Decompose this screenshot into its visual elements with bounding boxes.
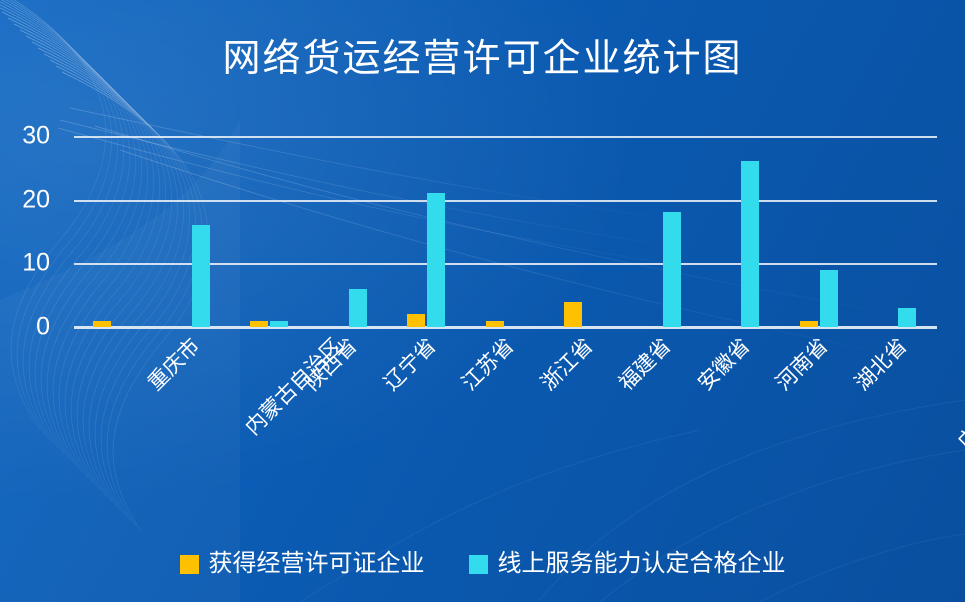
bar: [427, 193, 445, 327]
bar: [349, 289, 367, 327]
x-axis-label: 重庆市: [144, 335, 204, 395]
bar: [898, 308, 916, 327]
x-axis-label: 安徽省: [694, 335, 754, 395]
y-axis-labels: 30 20 10 0: [0, 136, 62, 327]
legend-label-permit: 获得经营许可证企业: [209, 550, 425, 578]
chart-title: 网络货运经营许可企业统计图: [0, 36, 965, 82]
chart-legend: 获得经营许可证企业 线上服务能力认定合格企业: [0, 550, 965, 578]
bar: [564, 302, 582, 327]
bar: [820, 270, 838, 327]
bar: [741, 161, 759, 327]
x-axis-label: 辽宁省: [380, 335, 440, 395]
x-axis-label: 广西壮族自治区: [954, 335, 965, 455]
bar: [407, 314, 425, 327]
legend-label-online: 线上服务能力认定合格企业: [498, 550, 786, 578]
x-axis-label: 福建省: [615, 335, 675, 395]
y-axis-tick-10: 10: [22, 251, 50, 276]
y-axis-tick-30: 30: [22, 124, 50, 149]
legend-swatch-icon-online: [469, 555, 488, 574]
legend-item-permit[interactable]: 获得经营许可证企业: [180, 550, 425, 578]
x-axis-label: 河南省: [772, 335, 832, 395]
bar: [663, 212, 681, 327]
bar-series-layer: [74, 136, 937, 327]
y-axis-tick-0: 0: [36, 315, 50, 340]
legend-item-online[interactable]: 线上服务能力认定合格企业: [469, 550, 786, 578]
x-axis-label: 浙江省: [537, 335, 597, 395]
x-axis-labels: 重庆市内蒙古自治区陕西省辽宁省江苏省浙江省福建省安徽省河南省湖北省广西壮族自治区: [74, 327, 937, 517]
x-axis-label: 湖北省: [851, 335, 911, 395]
bar: [192, 225, 210, 327]
chart-canvas: 网络货运经营许可企业统计图 30 20 10 0 重庆市内蒙古自治区陕西省辽宁省…: [0, 0, 965, 602]
legend-swatch-icon-permit: [180, 555, 199, 574]
x-axis-label: 江苏省: [458, 335, 518, 395]
y-axis-tick-20: 20: [22, 187, 50, 212]
